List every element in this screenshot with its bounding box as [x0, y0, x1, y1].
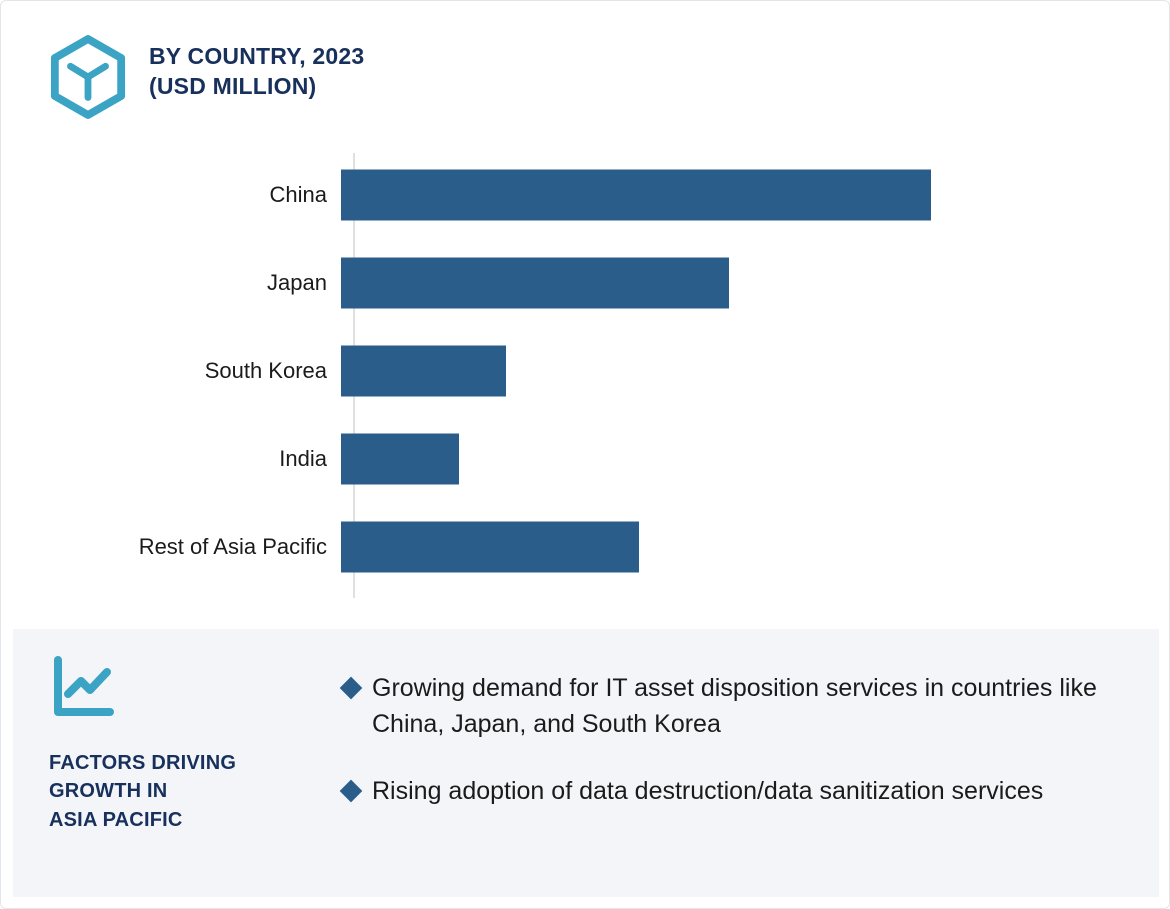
page-title-line1: BY COUNTRY, 2023: [149, 41, 364, 71]
diamond-bullet-icon: [340, 780, 363, 803]
bar-track: [341, 151, 1170, 239]
bar-label: China: [1, 182, 341, 208]
header: BY COUNTRY, 2023 (USD MILLION): [49, 33, 364, 124]
bar-label: South Korea: [1, 358, 341, 384]
factors-heading-line3: ASIA PACIFIC: [49, 806, 343, 834]
bar-japan[interactable]: [341, 258, 729, 309]
page-title-line2: (USD MILLION): [149, 71, 364, 101]
bar-row: China: [1, 151, 1170, 239]
factors-heading-line2: GROWTH IN: [49, 777, 343, 805]
bar-label: Japan: [1, 270, 341, 296]
bar-row: Rest of Asia Pacific: [1, 503, 1170, 591]
factors-heading-line1: FACTORS DRIVING: [49, 749, 343, 777]
bar-row: India: [1, 415, 1170, 503]
bullet-text: Growing demand for IT asset disposition …: [372, 671, 1129, 742]
bar-label: India: [1, 446, 341, 472]
bar-south-korea[interactable]: [341, 346, 506, 397]
diamond-bullet-icon: [340, 677, 363, 700]
list-item: Rising adoption of data destruction/data…: [343, 774, 1129, 810]
bar-row: South Korea: [1, 327, 1170, 415]
bar-china[interactable]: [341, 170, 931, 221]
bar-track: [341, 503, 1170, 591]
bullet-text: Rising adoption of data destruction/data…: [372, 774, 1043, 810]
bar-track: [341, 327, 1170, 415]
factors-panel: FACTORS DRIVING GROWTH IN ASIA PACIFIC G…: [13, 629, 1159, 897]
bar-india[interactable]: [341, 434, 459, 485]
factors-left-column: FACTORS DRIVING GROWTH IN ASIA PACIFIC: [13, 629, 343, 834]
bar-rest-of-asia-pacific[interactable]: [341, 522, 639, 573]
line-chart-icon: [49, 655, 343, 721]
bar-chart: China Japan South Korea India Rest of As: [1, 141, 1170, 611]
factors-heading: FACTORS DRIVING GROWTH IN ASIA PACIFIC: [49, 749, 343, 834]
bar-label: Rest of Asia Pacific: [1, 534, 341, 560]
infographic-card: BY COUNTRY, 2023 (USD MILLION) China Jap…: [0, 0, 1170, 909]
bar-track: [341, 415, 1170, 503]
bar-track: [341, 239, 1170, 327]
list-item: Growing demand for IT asset disposition …: [343, 671, 1129, 742]
hexagon-cube-icon: [49, 33, 127, 124]
factors-bullet-list: Growing demand for IT asset disposition …: [343, 629, 1159, 842]
page-title: BY COUNTRY, 2023 (USD MILLION): [149, 33, 364, 102]
bar-row: Japan: [1, 239, 1170, 327]
